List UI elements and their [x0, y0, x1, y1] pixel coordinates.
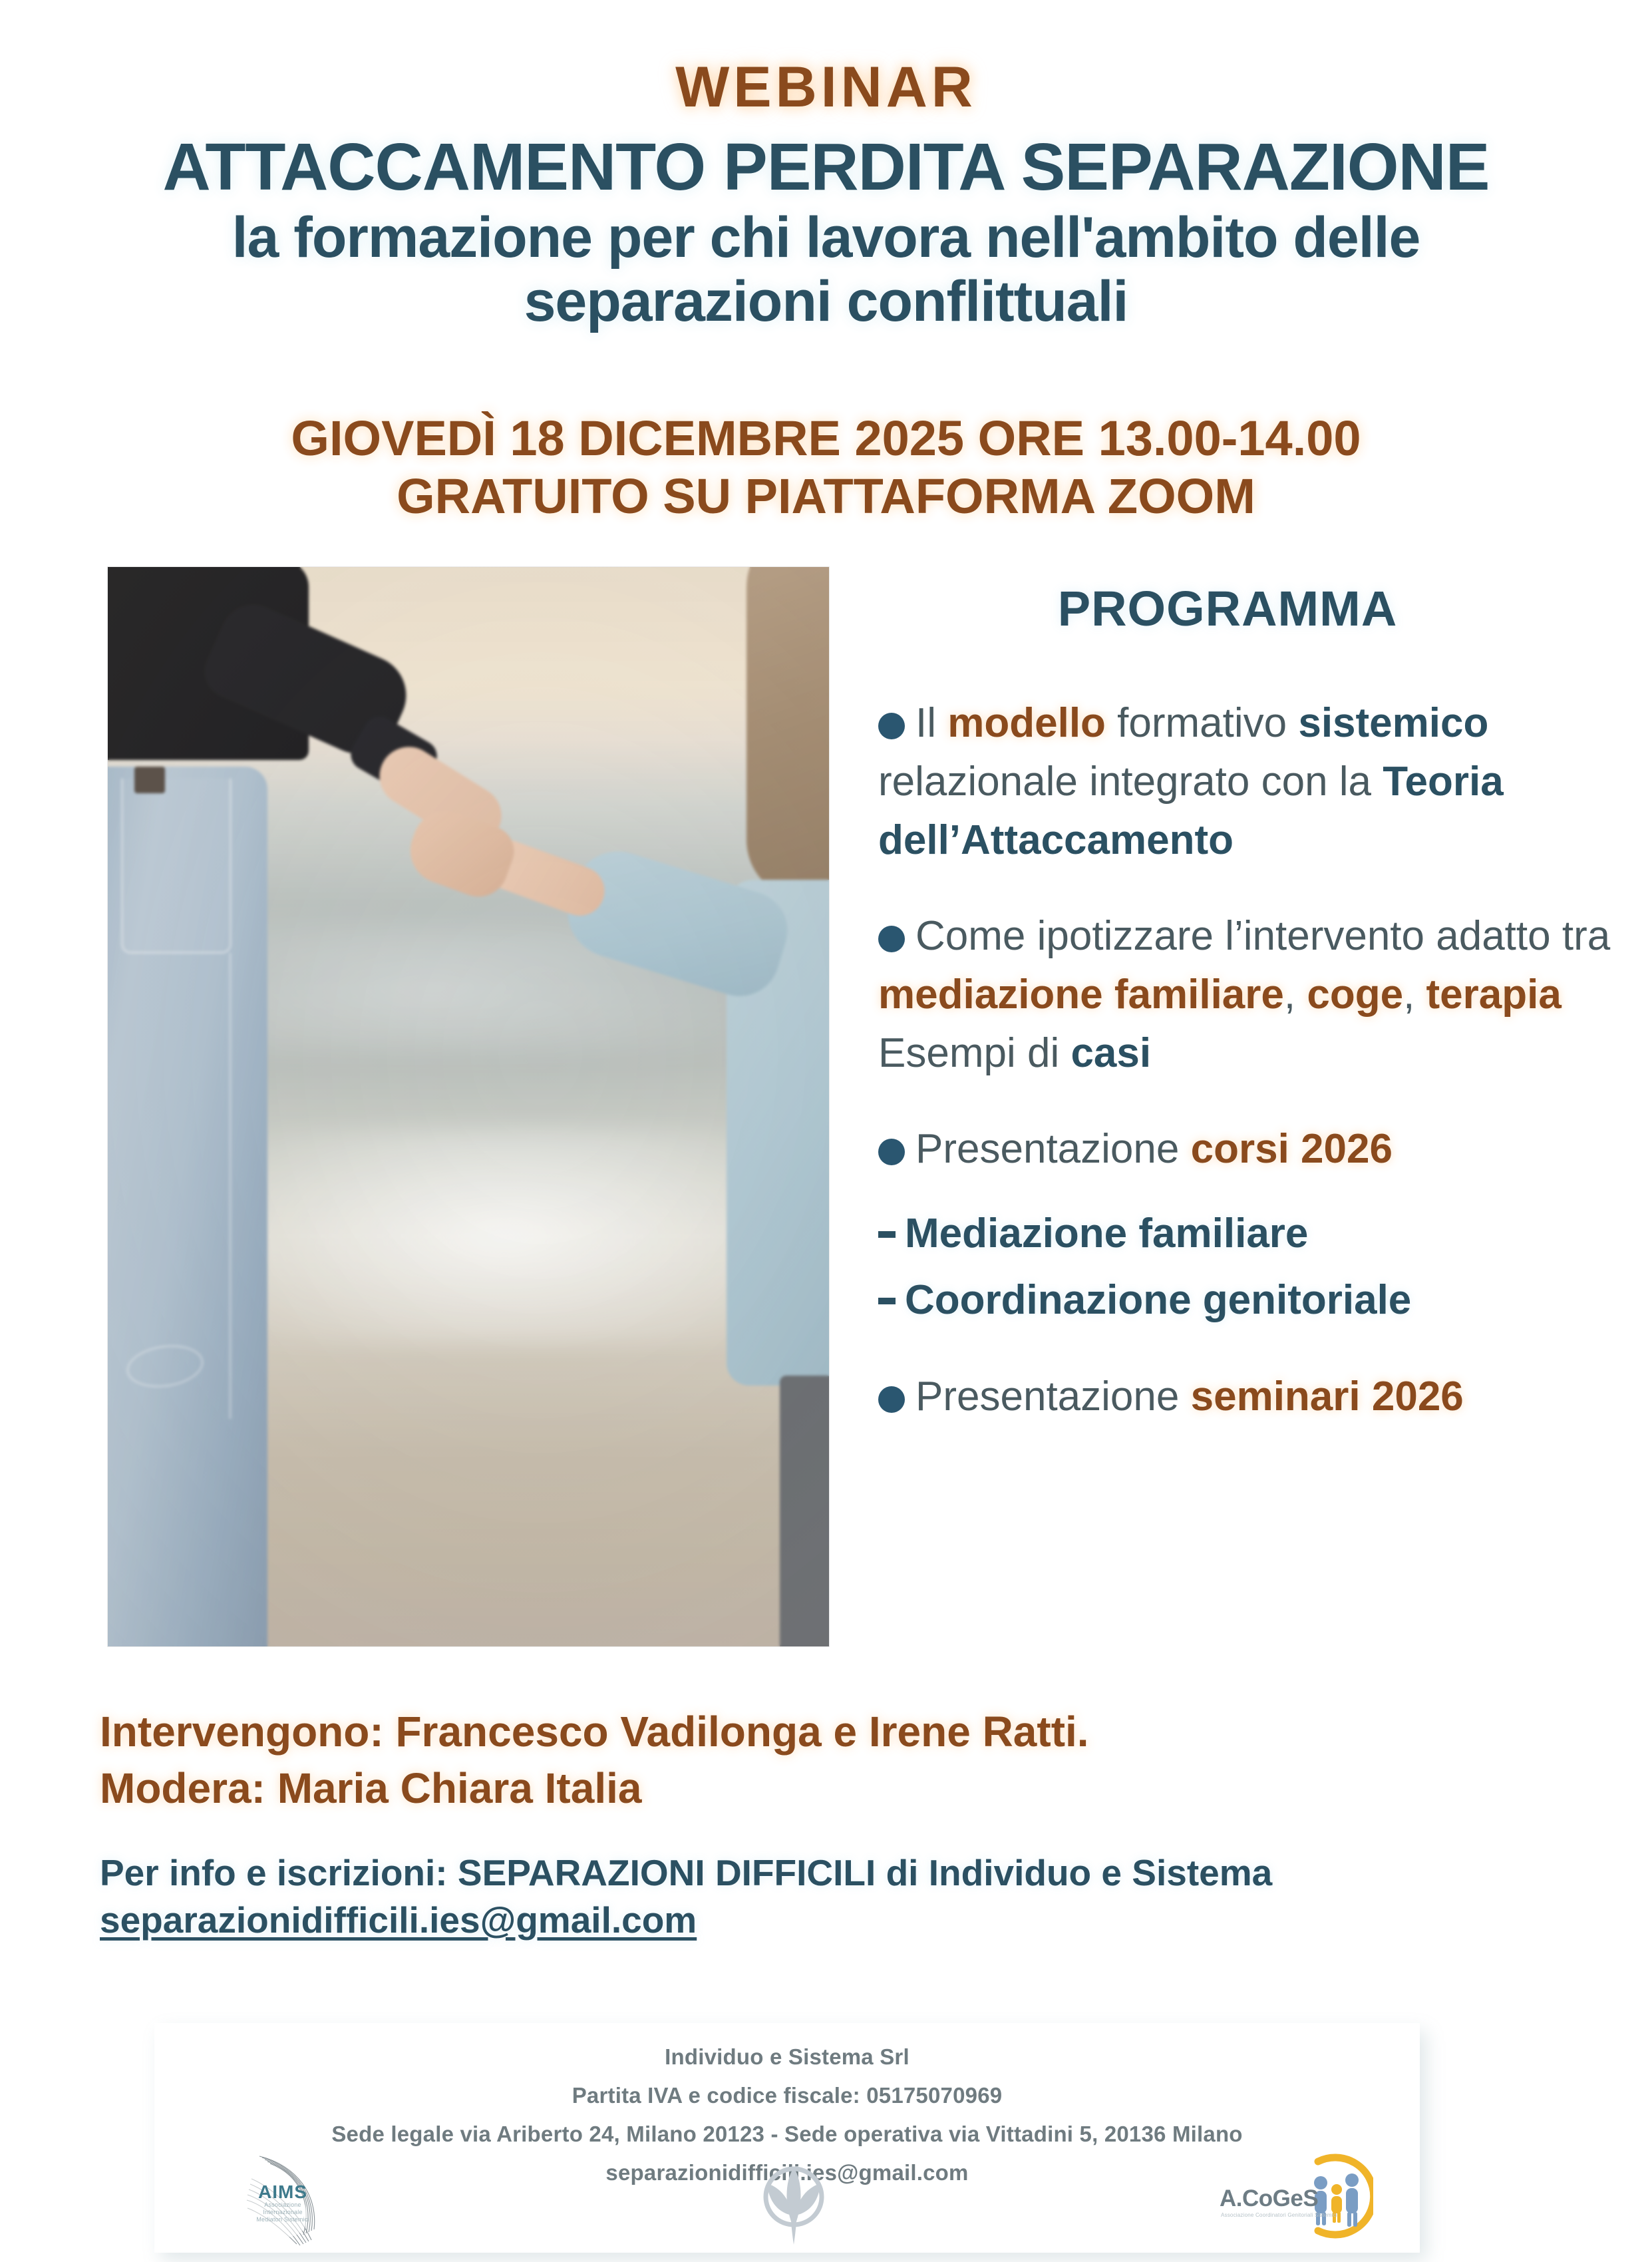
sprout-circle-logo-icon: [756, 2160, 831, 2246]
page-subtitle-line-2: separazioni conflittuali: [101, 270, 1552, 333]
child-leg: [780, 1376, 829, 1646]
page-title: ATTACCAMENTO PERDITA SEPARAZIONE: [0, 133, 1652, 202]
speakers-block: Intervengono: Francesco Vadilonga e Iren…: [100, 1704, 1597, 1817]
programma-item-1-text: Il modello formativo sistemico relaziona…: [878, 700, 1504, 863]
footer-card: Individuo e Sistema Srl Partita IVA e co…: [154, 2023, 1420, 2253]
programma-item-4: Presentazione seminari 2026: [878, 1368, 1617, 1426]
footer-vat: Partita IVA e codice fiscale: 0517507096…: [154, 2076, 1420, 2115]
hero-photo: [108, 567, 829, 1646]
adult-jeans-pocket: [121, 779, 232, 954]
acoges-tagline: Associazione Coordinatori Genitoriali Si…: [1221, 2212, 1337, 2218]
page-subtitle-line-1: la formazione per chi lavora nell'ambito…: [101, 206, 1552, 270]
event-date: GIOVEDÌ 18 DICEMBRE 2025 ORE 13.00-14.00: [0, 409, 1652, 467]
kicker-webinar: WEBINAR: [0, 59, 1652, 116]
acoges-logo: A.CoGeS Associazione Coordinatori Genito…: [1217, 2150, 1373, 2249]
poster-canvas: WEBINAR ATTACCAMENTO PERDITA SEPARAZIONE…: [0, 0, 1652, 2262]
header-block: WEBINAR ATTACCAMENTO PERDITA SEPARAZIONE…: [0, 59, 1652, 334]
footer-company: Individuo e Sistema Srl: [154, 2038, 1420, 2076]
programma-subitem-1: Mediazione familiare: [878, 1207, 1617, 1261]
event-platform: GRATUITO SU PIATTAFORMA ZOOM: [0, 467, 1652, 525]
bullet-dot-icon: [878, 926, 905, 952]
dash-icon: [878, 1298, 896, 1304]
programma-subitem-2-label: Coordinazione genitoriale: [905, 1277, 1411, 1323]
adult-pocket-phone: [134, 767, 165, 793]
programma-item-1: Il modello formativo sistemico relaziona…: [878, 694, 1617, 870]
adult-jeans-seam: [229, 953, 232, 1419]
programma-item-2: Come ipotizzare l’intervento adatto tra …: [878, 907, 1617, 1083]
programma-item-3: Presentazione corsi 2026: [878, 1120, 1617, 1179]
acoges-wordmark: A.CoGeS: [1220, 2185, 1318, 2212]
aims-wordmark: AIMS: [250, 2181, 315, 2203]
programma-column: PROGRAMMA Il modello formativo sistemico…: [878, 580, 1617, 1463]
programma-item-2-text: Come ipotizzare l’intervento adatto tra …: [878, 913, 1610, 1076]
programma-subitem-2: Coordinazione genitoriale: [878, 1273, 1617, 1328]
dash-icon: [878, 1231, 896, 1238]
programma-item-3-text: Presentazione corsi 2026: [915, 1126, 1393, 1172]
contact-email-link[interactable]: separazionidifficili.ies@gmail.com: [100, 1899, 697, 1941]
programma-item-4-text: Presentazione seminari 2026: [915, 1374, 1464, 1419]
bullet-dot-icon: [878, 1139, 905, 1165]
child-hair: [746, 567, 829, 900]
aims-tagline: Associazione Internazionale Mediatori Si…: [250, 2201, 315, 2223]
bullet-dot-icon: [878, 1386, 905, 1413]
footer-address: Sede legale via Ariberto 24, Milano 2012…: [154, 2115, 1420, 2154]
aims-logo: AIMS Associazione Internazionale Mediato…: [233, 2151, 333, 2251]
speakers-presenters: Intervengono: Francesco Vadilonga e Iren…: [100, 1704, 1597, 1760]
programma-heading: PROGRAMMA: [878, 580, 1617, 637]
programma-subitem-1-label: Mediazione familiare: [905, 1211, 1308, 1256]
contact-block: Per info e iscrizioni: SEPARAZIONI DIFFI…: [100, 1847, 1597, 1941]
speakers-moderator: Modera: Maria Chiara Italia: [100, 1760, 1597, 1817]
datetime-block: GIOVEDÌ 18 DICEMBRE 2025 ORE 13.00-14.00…: [0, 409, 1652, 526]
contact-info-line: Per info e iscrizioni: SEPARAZIONI DIFFI…: [100, 1847, 1597, 1899]
bullet-dot-icon: [878, 713, 905, 739]
